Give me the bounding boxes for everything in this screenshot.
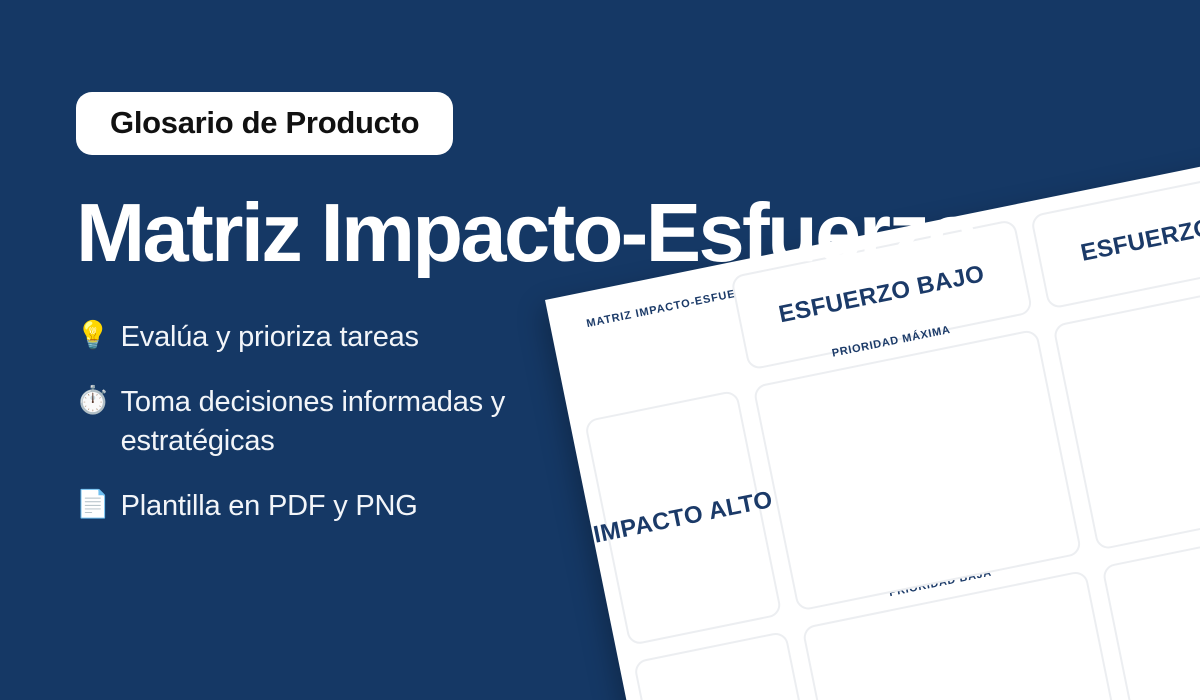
- feature-item-template: 📄 Plantilla en PDF y PNG: [76, 487, 546, 525]
- document-icon: 📄: [76, 487, 110, 523]
- page-title: Matriz Impacto-Esfuerzo: [76, 191, 696, 274]
- feature-label: Evalúa y prioriza tareas: [121, 318, 419, 356]
- hero-text-column: Glosario de Producto Matriz Impacto-Esfu…: [76, 92, 696, 552]
- matrix-row-header-impacto-bajo: IMPACTO BAJO: [633, 631, 832, 700]
- matrix-column-header-label: ESFUERZO ALTO: [1078, 200, 1200, 268]
- category-badge[interactable]: Glosario de Producto: [76, 92, 453, 155]
- feature-list: 💡 Evalúa y prioriza tareas ⏱️ Toma decis…: [76, 318, 696, 525]
- feature-item-evaluate: 💡 Evalúa y prioriza tareas: [76, 318, 546, 356]
- category-badge-label: Glosario de Producto: [110, 105, 419, 140]
- matrix-quadrant-alto-alto[interactable]: [1052, 268, 1200, 551]
- lightbulb-icon: 💡: [76, 318, 110, 354]
- feature-label: Toma decisiones informadas y estratégica…: [121, 383, 546, 460]
- promo-banner: Glosario de Producto Matriz Impacto-Esfu…: [0, 0, 1200, 700]
- feature-label: Plantilla en PDF y PNG: [121, 487, 418, 525]
- matrix-column-header-esfuerzo-alto: ESFUERZO ALTO: [1030, 158, 1200, 310]
- feature-item-decisions: ⏱️ Toma decisiones informadas y estratég…: [76, 383, 546, 460]
- stopwatch-icon: ⏱️: [76, 383, 110, 419]
